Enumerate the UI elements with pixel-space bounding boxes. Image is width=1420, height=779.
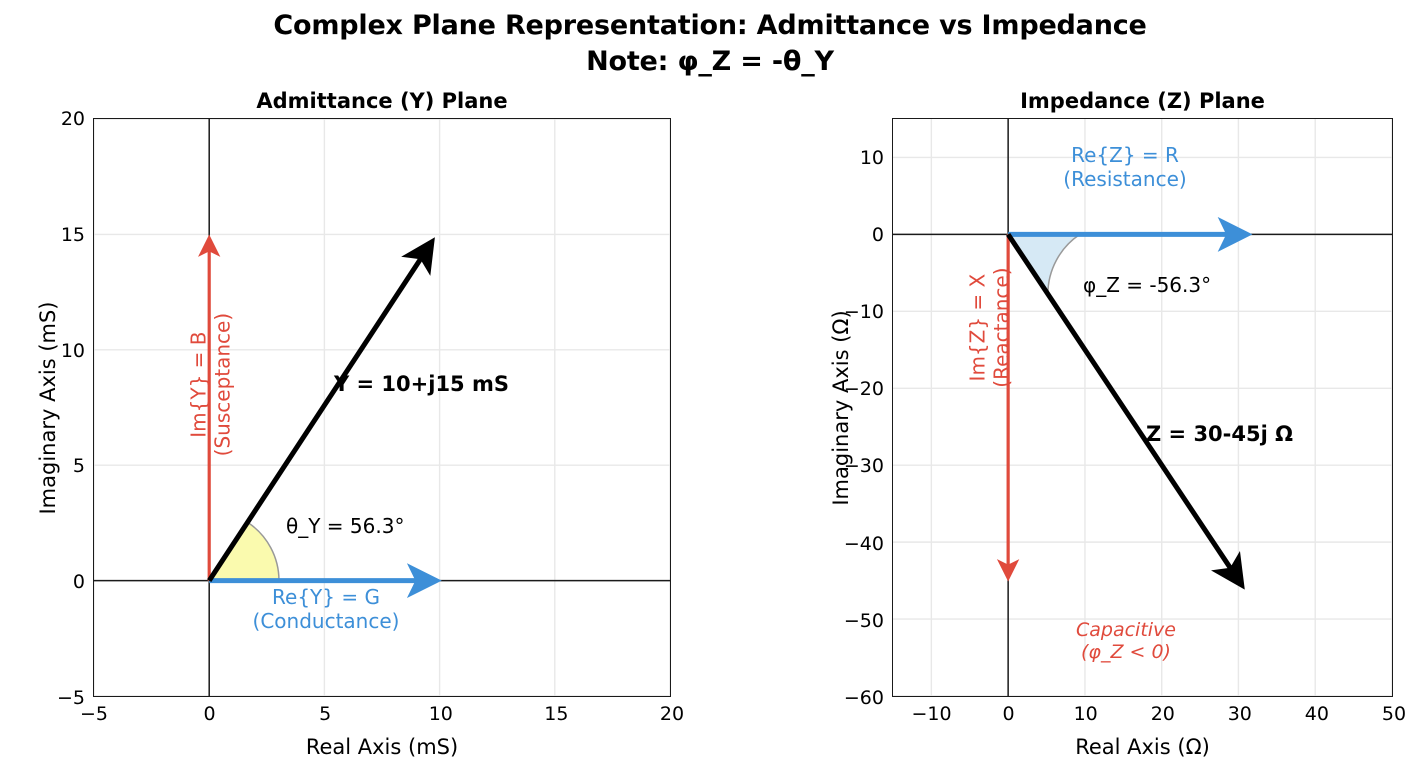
impedance-xtick-3: 20	[1151, 703, 1175, 725]
admittance-ytick-4: 15	[61, 224, 85, 246]
figure-canvas: Complex Plane Representation: Admittance…	[0, 0, 1420, 779]
impedance-imag-component-label-line2: (Reactance)	[989, 267, 1013, 387]
admittance-imag-component-label: Im{Y} = B (Susceptance)	[187, 255, 234, 515]
admittance-xtick-3: 10	[429, 703, 453, 725]
impedance-capacitive-annotation: Capacitive (φ_Z < 0)	[1076, 619, 1176, 664]
admittance-imag-component-label-line2: (Susceptance)	[210, 313, 234, 456]
figure-suptitle: Complex Plane Representation: Admittance…	[0, 8, 1420, 80]
admittance-real-component-label-line2: (Conductance)	[253, 609, 400, 633]
suptitle-line-1: Complex Plane Representation: Admittance…	[273, 10, 1146, 41]
impedance-plot-axes: Impedance (Z) Plane	[892, 118, 1393, 697]
admittance-ytick-2: 5	[73, 455, 85, 477]
admittance-plot-axes: Admittance (Y) Plane	[93, 118, 671, 697]
impedance-xtick-6: 50	[1382, 703, 1406, 725]
impedance-imag-component-label: Im{Z} = X (Reactance)	[966, 203, 1013, 453]
impedance-ytick-7: −60	[844, 687, 884, 709]
impedance-xtick-2: 10	[1074, 703, 1098, 725]
suptitle-line-2: Note: φ_Z = -θ_Y	[0, 44, 1420, 80]
admittance-xtick-1: 0	[204, 703, 216, 725]
impedance-angle-label: φ_Z = -56.3°	[1083, 274, 1211, 298]
impedance-ytick-0: 10	[860, 147, 884, 169]
admittance-plot-title: Admittance (Y) Plane	[94, 89, 670, 113]
impedance-capacitive-annotation-line1: Capacitive	[1076, 619, 1176, 641]
impedance-real-component-label: Re{Z} = R (Resistance)	[1063, 144, 1186, 191]
admittance-real-component-label: Re{Y} = G (Conductance)	[253, 586, 400, 633]
impedance-xtick-1: 0	[1003, 703, 1015, 725]
impedance-imag-component-label-line1: Im{Z} = X	[965, 274, 989, 382]
admittance-ytick-1: 0	[73, 571, 85, 593]
impedance-xtick-5: 40	[1305, 703, 1329, 725]
admittance-ytick-5: 20	[61, 108, 85, 130]
impedance-ytick-1: 0	[872, 224, 884, 246]
impedance-xaxis-label: Real Axis (Ω)	[893, 735, 1392, 759]
impedance-xtick-0: −10	[911, 703, 951, 725]
admittance-yaxis-label: Imaginary Axis (mS)	[36, 158, 60, 658]
admittance-imag-component-label-line1: Im{Y} = B	[186, 331, 210, 437]
impedance-xtick-4: 30	[1228, 703, 1252, 725]
impedance-real-component-label-line1: Re{Z} = R	[1071, 143, 1179, 167]
impedance-real-component-label-line2: (Resistance)	[1063, 167, 1186, 191]
admittance-xaxis-label: Real Axis (mS)	[94, 735, 670, 759]
admittance-vector-label: Y = 10+j15 mS	[334, 372, 509, 397]
admittance-ytick-0: −5	[57, 687, 85, 709]
admittance-xtick-4: 15	[544, 703, 568, 725]
admittance-angle-label: θ_Y = 56.3°	[286, 515, 404, 539]
admittance-xtick-2: 5	[319, 703, 331, 725]
impedance-plot-title: Impedance (Z) Plane	[893, 89, 1392, 113]
impedance-capacitive-annotation-line2: (φ_Z < 0)	[1081, 641, 1171, 663]
admittance-ytick-3: 10	[61, 340, 85, 362]
impedance-yaxis-label: Imaginary Axis (Ω)	[829, 158, 853, 658]
admittance-xtick-5: 20	[660, 703, 684, 725]
admittance-real-component-label-line1: Re{Y} = G	[272, 585, 380, 609]
impedance-vector-label: Z = 30-45j Ω	[1146, 422, 1293, 447]
